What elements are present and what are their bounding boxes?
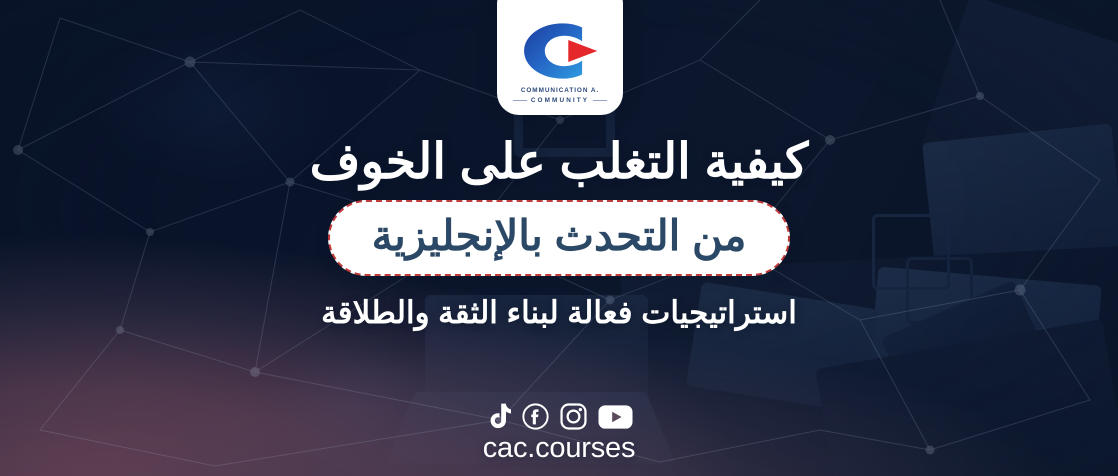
promo-banner: COMMUNICATION A. COMMUNITY كيفية التغلب … <box>0 0 1118 476</box>
instagram-icon[interactable] <box>560 403 587 430</box>
social-handle: cac.courses <box>483 432 636 465</box>
headline-line-1: كيفية التغلب على الخوف <box>0 138 1118 187</box>
facebook-icon[interactable] <box>522 403 549 430</box>
youtube-icon[interactable] <box>598 404 633 430</box>
headline-subtitle: استراتيجيات فعالة لبناء الثقة والطلاقة <box>0 297 1118 328</box>
logo-card: COMMUNICATION A. COMMUNITY <box>497 0 623 115</box>
social-icon-row <box>486 403 633 430</box>
logo-text-sub-row: COMMUNITY <box>513 97 607 104</box>
letter-c-with-play-triangle-icon <box>518 22 602 80</box>
logo-rule-left <box>513 100 527 101</box>
logo-rule-right <box>593 100 607 101</box>
tiktok-icon[interactable] <box>486 403 511 430</box>
logo-text-sub: COMMUNITY <box>531 97 589 104</box>
headline-pill-row: من التحدث بالإنجليزية <box>0 200 1118 276</box>
logo-text-main: COMMUNICATION A. <box>521 87 599 94</box>
social-footer: cac.courses <box>0 403 1118 465</box>
headline-block: كيفية التغلب على الخوف من التحدث بالإنجل… <box>0 138 1118 328</box>
headline-highlight-pill: من التحدث بالإنجليزية <box>328 200 791 276</box>
